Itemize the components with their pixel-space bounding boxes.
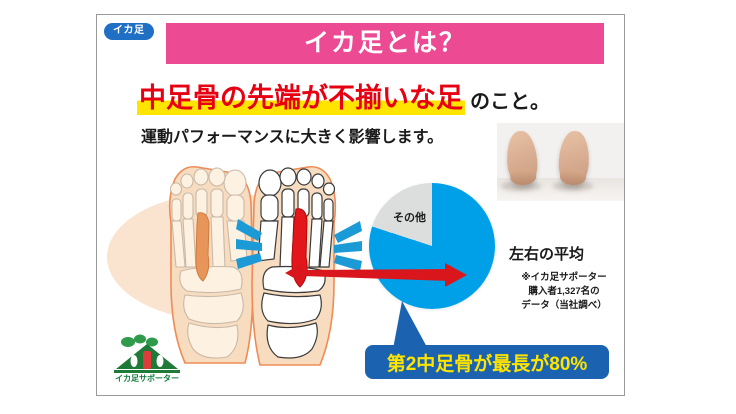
bare-feet-photo: [497, 123, 625, 201]
chart-note: ※イカ足サポーター 購入者1,327名の データ（当社調べ）: [505, 271, 623, 312]
logo-mark-icon: [104, 333, 190, 377]
pie-chart: その他: [369, 183, 499, 313]
corner-badge: イカ足: [104, 23, 154, 40]
pie-label-other: その他: [393, 209, 426, 225]
subheadline: 運動パフォーマンスに大きく影響します。: [141, 123, 443, 147]
slide-frame: イカ足 イカ足とは？ 中足骨の先端が不揃いな足 のこと。 運動パフォーマンスに大…: [96, 14, 625, 396]
page-title: イカ足とは？: [304, 31, 466, 56]
callout-text: 第2中足骨が最長が80%: [387, 349, 588, 376]
title-bar: イカ足とは？: [166, 23, 604, 64]
heel-left: [505, 130, 539, 186]
heel-right: [558, 130, 591, 185]
chart-note-line-2: 購入者1,327名の: [505, 285, 623, 299]
pie-slices: [369, 183, 495, 309]
chart-heading: 左右の平均: [509, 243, 584, 264]
headline-tail: のこと。: [470, 85, 550, 115]
logo-text: イカ足サポーター: [104, 373, 190, 384]
callout-box: 第2中足骨が最長が80%: [365, 345, 609, 379]
brand-logo: イカ足サポーター: [104, 333, 190, 387]
highlighted-metatarsal-right: [292, 209, 307, 287]
chart-note-line-3: データ（当社調べ）: [505, 299, 623, 313]
highlighted-metatarsal-left: [196, 213, 209, 281]
callout-tail: [393, 301, 428, 349]
blue-pressure-arrows-right: [334, 221, 362, 271]
headline: 中足骨の先端が不揃いな足 のこと。: [137, 83, 617, 115]
chart-note-line-1: ※イカ足サポーター: [505, 271, 623, 285]
foot-skeleton-ikaashi-illustration: [236, 161, 364, 375]
headline-highlight: 中足骨の先端が不揃いな足: [137, 83, 465, 115]
